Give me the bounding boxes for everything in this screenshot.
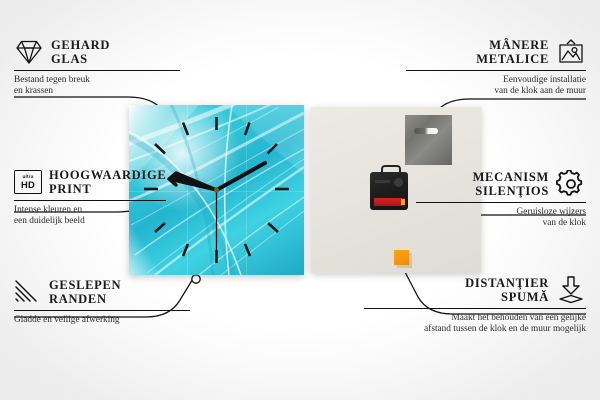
picture-frame-hanger-icon	[556, 38, 586, 66]
metal-hanger-plate	[405, 115, 452, 165]
feature-header: ultra HD HOOGWAARDIGE PRINT	[14, 168, 204, 196]
divider	[14, 200, 166, 201]
feature-header: DISTANŢIER SPUMĂ	[364, 276, 586, 304]
feature-distantier-spuma: DISTANŢIER SPUMĂ Maakt het behouden van …	[364, 276, 586, 336]
minute-hand	[217, 163, 266, 190]
divider	[364, 308, 586, 309]
divider	[14, 310, 190, 311]
feature-title: MÂNERE METALICE	[476, 38, 549, 66]
hanger-slot	[414, 128, 438, 134]
feature-manere-metalice: MÂNERE METALICE Eenvoudige installatie v…	[406, 38, 586, 98]
bevelled-edges-icon	[14, 279, 42, 305]
feature-mecanism-silentios: MECANISM SILENŢIOS Geruisloze wijzers va…	[416, 170, 586, 230]
feature-title: DISTANŢIER SPUMĂ	[465, 276, 549, 304]
mechanism-dial	[394, 178, 403, 187]
feature-title: MECANISM SILENŢIOS	[473, 170, 549, 198]
feature-gehard-glas: GEHARD GLAS Bestand tegen breuk en krass…	[14, 38, 194, 98]
orange-foam-spacer	[394, 250, 409, 265]
feature-title: HOOGWAARDIGE PRINT	[49, 168, 166, 196]
hands-center-cap	[214, 187, 219, 192]
feature-description: Maakt het behouden van een gelijke afsta…	[364, 313, 586, 336]
ultra-hd-icon: ultra HD	[14, 170, 42, 194]
mechanism-label	[375, 180, 390, 183]
divider	[406, 70, 586, 71]
feature-header: GESLEPEN RANDEN	[14, 278, 204, 306]
feature-title: GESLEPEN RANDEN	[49, 278, 121, 306]
infographic-canvas: GEHARD GLAS Bestand tegen breuk en krass…	[0, 0, 600, 400]
battery-terminal	[401, 199, 405, 205]
diamond-icon	[14, 39, 44, 65]
feature-geslepen-randen: GESLEPEN RANDEN Gladde en veilige afwerk…	[14, 278, 204, 326]
foam-spacer-arrow-icon	[556, 276, 586, 304]
feature-description: Geruisloze wijzers van de klok	[416, 207, 586, 230]
divider	[14, 70, 180, 71]
mechanism-hanger-tab	[381, 165, 401, 176]
feature-header: GEHARD GLAS	[14, 38, 194, 66]
gear-icon	[556, 170, 586, 198]
feature-description: Eenvoudige installatie van de klok aan d…	[406, 75, 586, 98]
feature-description: Gladde en veilige afwerking	[14, 315, 204, 326]
feature-title: GEHARD GLAS	[51, 38, 110, 66]
feature-hoogwaardige-print: ultra HD HOOGWAARDIGE PRINT Intense kleu…	[14, 168, 204, 228]
feature-header: MÂNERE METALICE	[406, 38, 586, 66]
feature-header: MECANISM SILENŢIOS	[416, 170, 586, 198]
feature-description: Intense kleuren en een duidelijk beeld	[14, 205, 204, 228]
feature-description: Bestand tegen breuk en krassen	[14, 75, 194, 98]
clock-mechanism	[370, 172, 408, 210]
battery	[374, 198, 404, 206]
divider	[416, 202, 586, 203]
